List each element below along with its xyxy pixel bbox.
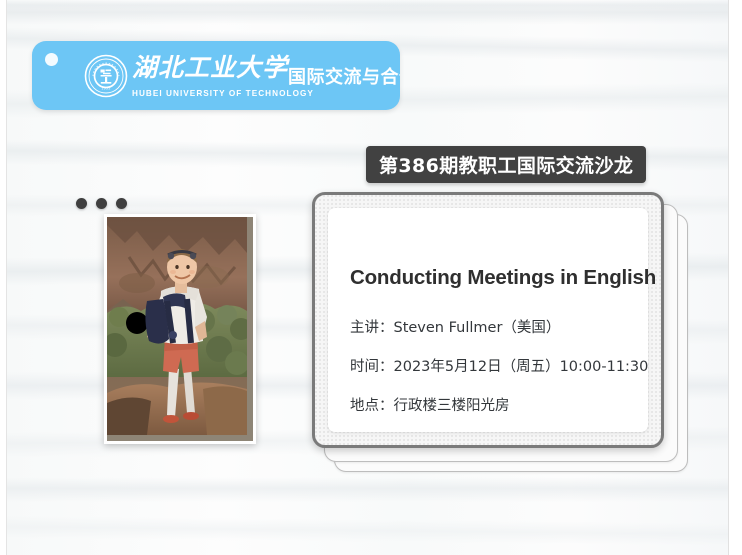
- speaker-photo: [107, 217, 253, 441]
- event-details: 主讲：Steven Fullmer（美国） 时间：2023年5月12日（周五）1…: [350, 316, 626, 415]
- detail-time: 时间：2023年5月12日（周五）10:00-11:30: [350, 355, 626, 376]
- department-name: 国际交流与合作处: [288, 63, 400, 89]
- event-series-title: 第386期教职工国际交流沙龙: [379, 151, 633, 178]
- university-name-block: 湖北工业大学 HUBEI UNIVERSITY OF TECHNOLOGY: [132, 53, 282, 99]
- dot-icon: [76, 198, 87, 209]
- slide-screen: 1952 湖北工业大学 HUBEI UNIVERSITY OF TECHNOLO…: [0, 0, 742, 555]
- svg-text:1952: 1952: [101, 86, 110, 90]
- event-card: Conducting Meetings in English 主讲：Steven…: [312, 192, 664, 448]
- talk-title: Conducting Meetings in English: [350, 266, 626, 290]
- university-seal-icon: 1952: [84, 54, 128, 98]
- event-card-stack: Conducting Meetings in English 主讲：Steven…: [312, 192, 687, 470]
- university-header-banner: 1952 湖北工业大学 HUBEI UNIVERSITY OF TECHNOLO…: [32, 41, 400, 110]
- university-name-en: HUBEI UNIVERSITY OF TECHNOLOGY: [132, 89, 314, 98]
- dot-icon: [116, 198, 127, 209]
- dot-icon: [96, 198, 107, 209]
- detail-speaker: 主讲：Steven Fullmer（美国）: [350, 316, 626, 337]
- detail-location: 地点：行政楼三楼阳光房: [350, 394, 626, 415]
- speaker-photo-frame: [104, 214, 256, 444]
- event-card-inner: Conducting Meetings in English 主讲：Steven…: [328, 208, 648, 432]
- decorative-dots: [76, 198, 127, 209]
- event-series-ribbon: 第386期教职工国际交流沙龙: [366, 146, 646, 183]
- university-name-cn: 湖北工业大学: [132, 53, 288, 82]
- white-dot-icon: [45, 53, 58, 66]
